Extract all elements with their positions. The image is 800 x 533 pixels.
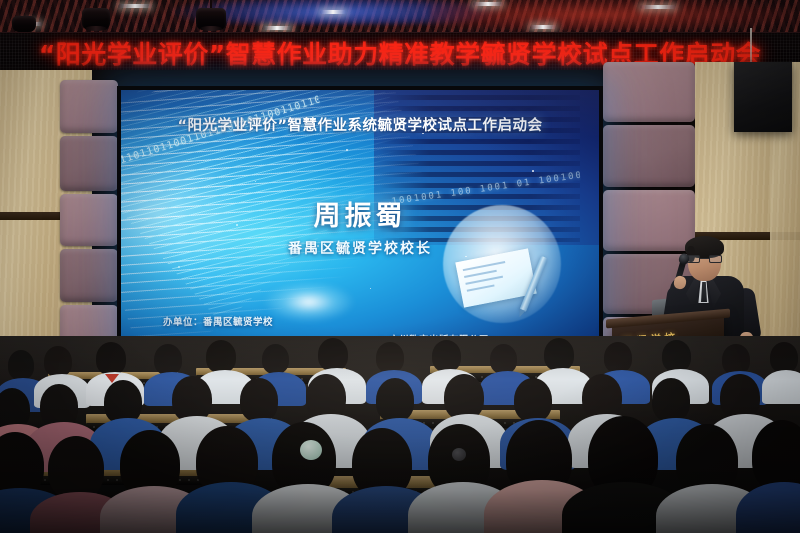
audience-head: [652, 378, 690, 422]
auditorium-photo: “阳光学业评价”智慧作业助力精准教学毓贤学校试点工作启动会: [0, 0, 800, 533]
audience-area: [0, 336, 800, 533]
slide-speaker-name: 周振蜀: [121, 194, 599, 233]
audience-head: [514, 378, 552, 422]
audience-head: [44, 346, 72, 377]
slide-hotspot-glow: [264, 282, 354, 322]
audience-head: [48, 436, 104, 500]
ceiling-light-strip: [530, 25, 556, 29]
audience-head: [544, 338, 574, 371]
glasses-icon: [687, 255, 722, 263]
audience-head: [8, 350, 34, 380]
stage-light-icon: [82, 0, 110, 34]
slide-credit-left: 办单位：番禺区毓贤学校: [163, 314, 273, 328]
audience-head: [172, 376, 212, 422]
acoustic-panel: [60, 194, 118, 246]
audience-head: [206, 340, 236, 373]
ceiling-light-strip: [118, 4, 152, 8]
projection-screen-frame: 1001101101100110110011011001101100110110…: [117, 86, 603, 361]
audience-head: [490, 344, 517, 374]
hair-clip: [452, 448, 466, 461]
ceiling-light-strip: [473, 2, 503, 6]
acoustic-panel-column-left: [60, 80, 118, 370]
projection-screen: 1001101101100110110011011001101100110110…: [121, 90, 599, 357]
hair-scrunchie: [300, 440, 322, 460]
audience-head: [306, 374, 346, 420]
acoustic-panel: [60, 136, 118, 191]
ceiling: [0, 0, 800, 34]
audience-shoulders: [762, 370, 800, 404]
audience-head: [376, 342, 404, 373]
slide-title: “阳光学业评价”智慧作业系统毓贤学校试点工作启动会: [121, 114, 599, 135]
ceiling-light-strip: [320, 10, 346, 14]
audience-head: [604, 342, 632, 373]
audience-head: [444, 374, 484, 420]
ceiling-speaker-icon: [734, 62, 792, 132]
audience-head: [432, 340, 461, 372]
audience-head: [154, 344, 182, 375]
audience-head: [752, 420, 800, 492]
audience-head: [720, 374, 760, 420]
audience-head: [662, 340, 691, 372]
audience-head: [240, 378, 278, 422]
audience-head: [582, 374, 622, 420]
audience-head: [96, 342, 126, 375]
acoustic-panel: [603, 125, 695, 187]
audience-head: [770, 342, 798, 373]
acoustic-panel: [60, 249, 118, 302]
audience-head: [318, 338, 348, 371]
acoustic-panel: [60, 80, 118, 133]
audience-head: [262, 344, 289, 374]
ceiling-light-strip: [262, 26, 292, 30]
ceiling-light-strip: [640, 5, 676, 9]
stage-light-icon: [196, 0, 226, 34]
acoustic-panel: [603, 62, 695, 122]
slide-speaker-role: 番禺区毓贤学校校长: [121, 238, 599, 258]
audience-head: [376, 378, 414, 422]
